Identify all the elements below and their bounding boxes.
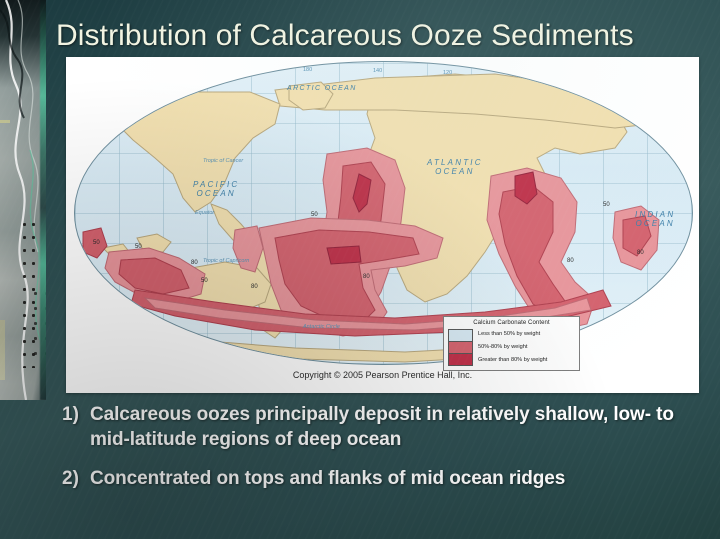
bullet-text-2: Concentrated on tops and flanks of mid o…	[90, 466, 565, 491]
lat-label-tropic-of-cancer: Tropic of Cancer	[203, 158, 243, 164]
slide-title: Distribution of Calcareous Ooze Sediment…	[56, 18, 706, 54]
contour-label: 50	[93, 240, 100, 246]
ocean-label-indian-line1: INDIAN	[635, 210, 675, 219]
contour-label: 80	[637, 250, 644, 256]
lon-tick: 160	[231, 68, 240, 74]
ocean-label-indian-line2: OCEAN	[635, 219, 675, 228]
decorative-side-strip	[0, 0, 46, 400]
ocean-label-atlantic-line2: OCEAN	[427, 167, 483, 176]
contour-label: 80	[567, 258, 574, 264]
calcareous-ooze-layer	[75, 62, 692, 364]
lat-label-equator: Equator	[195, 210, 214, 216]
strip-accent-line	[0, 120, 10, 123]
map-legend: Calcium Carbonate Content Less than 50% …	[443, 316, 580, 371]
contour-label: 80	[251, 284, 258, 290]
lat-label-tropic-of-capricorn: Tropic of Capricorn	[203, 258, 249, 264]
ocean-label-atlantic-line1: ATLANTIC	[427, 158, 483, 167]
world-map-oval: 50 50 50 80 80 50 80 50 80 80 ARCTIC OCE…	[74, 61, 693, 365]
legend-entry-low: Less than 50% by weight	[478, 329, 575, 340]
legend-entry-high: Greater than 80% by weight	[478, 355, 575, 366]
ocean-label-indian: INDIAN OCEAN	[635, 210, 675, 228]
contour-label: 50	[311, 212, 318, 218]
strip-edge-glow	[40, 0, 46, 400]
ocean-label-atlantic: ATLANTIC OCEAN	[427, 158, 483, 176]
ocean-label-pacific-line2: OCEAN	[193, 189, 239, 198]
bullet-number-1: 1)	[62, 402, 90, 427]
legend-entry-mid: 50%-80% by weight	[478, 342, 575, 353]
ocean-label-pacific-line1: PACIFIC	[193, 180, 239, 189]
contour-label: 80	[191, 260, 198, 266]
legend-swatch-mid	[449, 341, 472, 353]
contour-label: 50	[603, 202, 610, 208]
map-stage: 50 50 50 80 80 50 80 50 80 80 ARCTIC OCE…	[66, 57, 699, 369]
bullet-text-1: Calcareous oozes principally deposit in …	[90, 402, 712, 452]
legend-swatch-low	[449, 330, 472, 341]
ocean-label-arctic: ARCTIC OCEAN	[287, 84, 357, 93]
bullet-item-1: 1) Calcareous oozes principally deposit …	[62, 402, 712, 452]
bullet-item-2: 2) Concentrated on tops and flanks of mi…	[62, 466, 712, 491]
contour-label: 50	[201, 278, 208, 284]
legend-swatch-high	[449, 353, 472, 365]
lon-tick: 140	[373, 68, 382, 74]
map-figure-panel: 50 50 50 80 80 50 80 50 80 80 ARCTIC OCE…	[66, 57, 699, 393]
slide-canvas: Distribution of Calcareous Ooze Sediment…	[0, 0, 720, 539]
lon-tick: 180	[303, 67, 312, 73]
strip-accent-line-lower	[0, 320, 5, 380]
bullet-number-2: 2)	[62, 466, 90, 491]
contour-label: 50	[135, 244, 142, 250]
legend-swatch-column	[448, 329, 473, 366]
map-copyright: Copyright © 2005 Pearson Prentice Hall, …	[66, 370, 699, 380]
contour-label: 80	[363, 274, 370, 280]
lon-tick: 120	[443, 70, 452, 76]
lat-label-antarctic-circle: Antarctic Circle	[303, 324, 340, 330]
ocean-label-pacific: PACIFIC OCEAN	[193, 180, 239, 198]
bullet-list: 1) Calcareous oozes principally deposit …	[62, 402, 712, 505]
legend-title: Calcium Carbonate Content	[448, 320, 575, 326]
